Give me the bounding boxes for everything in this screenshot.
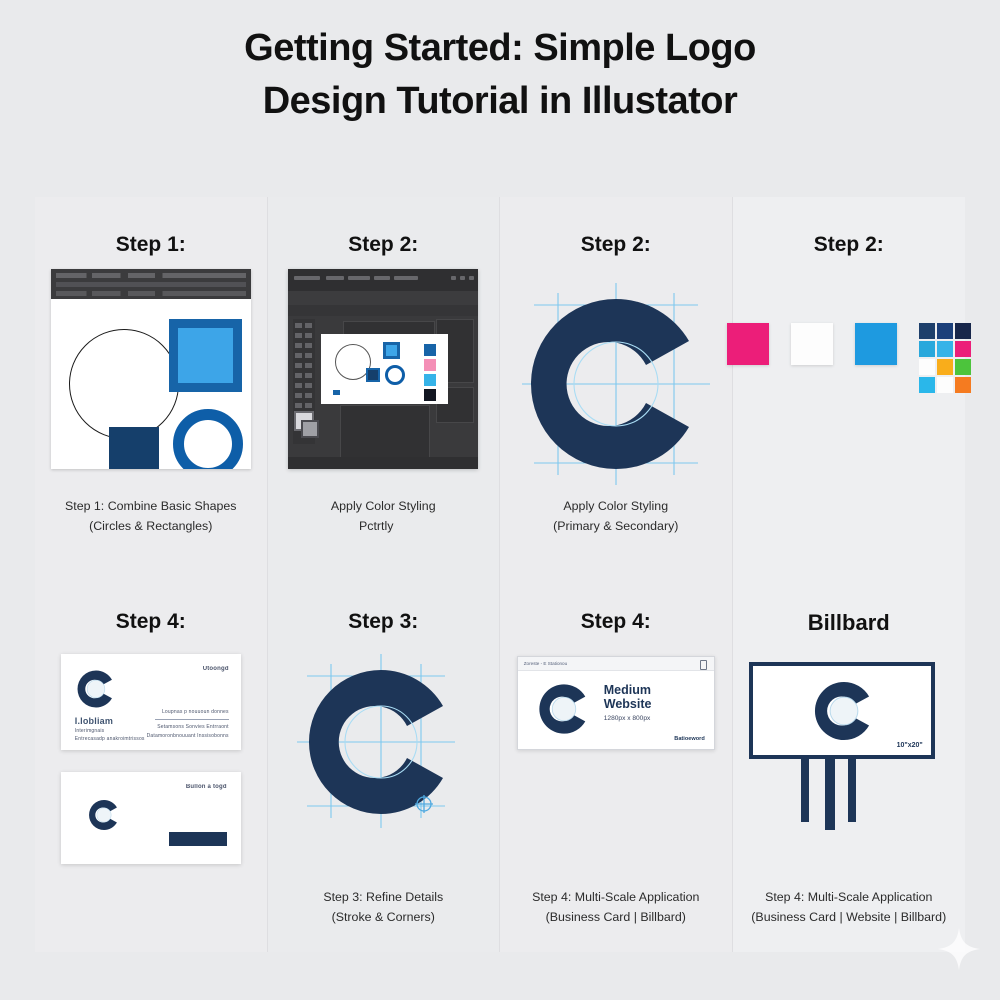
cell-step-2-logo: Step 2: Apply Color Styling (Primary & S… bbox=[500, 197, 732, 574]
illustrator-full-ui-mock bbox=[288, 269, 478, 469]
c-logo-with-guides bbox=[516, 277, 716, 492]
website-footer-text: Batioeword bbox=[674, 736, 704, 742]
artboard-canvas[interactable] bbox=[51, 299, 251, 469]
swatch-white[interactable] bbox=[791, 323, 833, 365]
cell-caption: Apply Color Styling Pctrtly bbox=[268, 496, 500, 536]
card-divider bbox=[155, 719, 229, 720]
c-logo-with-guides bbox=[293, 646, 473, 836]
caption-line-2: (Stroke & Corners) bbox=[268, 907, 500, 927]
shape-small-marker[interactable] bbox=[333, 390, 340, 395]
c-logo-icon bbox=[75, 668, 117, 710]
grid-swatch-12[interactable] bbox=[955, 377, 971, 393]
grid-swatch-2[interactable] bbox=[937, 323, 953, 339]
artboard-canvas[interactable] bbox=[321, 334, 448, 404]
card-role: Interimgnais bbox=[75, 728, 105, 734]
cell-heading: Step 2: bbox=[348, 233, 418, 257]
caption-line-1: Step 3: Refine Details bbox=[268, 887, 500, 907]
shape-square-navy[interactable] bbox=[109, 427, 159, 469]
caption-line-2: (Circles & Rectangles) bbox=[35, 516, 267, 536]
cell-billboard: Billbard 10"x20" Step 4: Multi-Scale App… bbox=[733, 574, 966, 951]
column-2: Step 2: bbox=[268, 197, 501, 952]
caption-line-2: Pctrtly bbox=[268, 516, 500, 536]
cell-heading: Step 4: bbox=[116, 610, 186, 634]
column-1: Step 1: Step 1: Co bbox=[35, 197, 268, 952]
website-mockup[interactable]: Zoreste - E Stationou Medium Website 128… bbox=[517, 656, 715, 750]
c-logo-artwork bbox=[516, 277, 716, 497]
website-dimensions: 1280px x 800px bbox=[604, 715, 651, 722]
caption-line-2: (Business Card | Billbard) bbox=[500, 907, 732, 927]
business-card-front[interactable]: Utoongd I.lobliam Interimgnais Entrecasa… bbox=[61, 654, 241, 750]
app-menubar bbox=[51, 269, 251, 299]
cell-step-4-website: Step 4: Zoreste - E Stationou Medium Web… bbox=[500, 574, 732, 951]
shape-ring-blue[interactable] bbox=[385, 365, 405, 385]
caption-line-1: Step 1: Combine Basic Shapes bbox=[35, 496, 267, 516]
c-logo-refined-artwork bbox=[293, 646, 473, 841]
swatch-navy[interactable] bbox=[424, 344, 436, 356]
cell-heading: Step 1: bbox=[116, 233, 186, 257]
business-card-back[interactable]: Bullon a togd bbox=[61, 772, 241, 864]
billboard-dimensions: 10"x20" bbox=[897, 742, 923, 749]
column-3: Step 2: Apply Color Styling (Primary & S… bbox=[500, 197, 733, 952]
cell-step-2-swatches: Step 2: bbox=[733, 197, 966, 574]
website-title-line-2: Website bbox=[604, 697, 652, 711]
cell-step-3: Step 3: bbox=[268, 574, 500, 951]
cell-caption: Step 4: Multi-Scale Application (Busines… bbox=[500, 887, 732, 927]
shape-square-light-blue[interactable] bbox=[383, 342, 400, 359]
stroke-swatch[interactable] bbox=[301, 420, 319, 438]
card-top-right-text: Utoongd bbox=[203, 666, 229, 672]
grid-swatch-5[interactable] bbox=[937, 341, 953, 357]
caption-line-1: Step 4: Multi-Scale Application bbox=[733, 887, 966, 907]
cell-heading: Step 4: bbox=[581, 610, 651, 634]
grid-swatch-9[interactable] bbox=[955, 359, 971, 375]
card-name: I.lobliam bbox=[75, 716, 113, 726]
app-statusbar bbox=[288, 457, 478, 469]
column-4: Step 2: bbox=[733, 197, 966, 952]
grid-swatch-8[interactable] bbox=[937, 359, 953, 375]
swatch-black[interactable] bbox=[424, 389, 436, 401]
cell-caption: Apply Color Styling (Primary & Secondary… bbox=[500, 496, 732, 536]
cell-heading: Billbard bbox=[808, 610, 890, 636]
cell-heading: Step 2: bbox=[581, 233, 651, 257]
website-title-line-1: Medium bbox=[604, 683, 652, 697]
card-right-line-3: Datamoronbnouuant Inssisobonns bbox=[147, 733, 229, 739]
billboard-leg-center bbox=[825, 759, 835, 830]
grid-swatch-10[interactable] bbox=[919, 377, 935, 393]
swatch-blue[interactable] bbox=[855, 323, 897, 365]
illustrator-window-mock bbox=[51, 269, 251, 469]
app-menubar bbox=[288, 291, 478, 305]
swatch-pink[interactable] bbox=[424, 359, 436, 371]
page-title-line2: Design Tutorial in Illustator bbox=[0, 75, 1000, 128]
canvas-swatch-column[interactable] bbox=[424, 344, 436, 404]
color-swatch-row bbox=[727, 323, 971, 393]
cell-heading: Step 3: bbox=[348, 610, 418, 634]
grid-swatch-3[interactable] bbox=[955, 323, 971, 339]
billboard-leg-right bbox=[848, 759, 856, 822]
caption-line-2: (Primary & Secondary) bbox=[500, 516, 732, 536]
color-swatch-grid bbox=[919, 323, 971, 393]
cell-caption: Step 3: Refine Details (Stroke & Corners… bbox=[268, 887, 500, 927]
grid-swatch-1[interactable] bbox=[919, 323, 935, 339]
cell-step-2-illustrator: Step 2: bbox=[268, 197, 500, 574]
card-top-right-text: Bullon a togd bbox=[186, 784, 227, 790]
sparkle-icon bbox=[936, 926, 982, 972]
billboard-leg-left bbox=[801, 759, 809, 822]
tutorial-grid: Step 1: Step 1: Co bbox=[35, 197, 965, 952]
caption-line-1: Step 4: Multi-Scale Application bbox=[500, 887, 732, 907]
shape-ring-blue[interactable] bbox=[173, 409, 243, 469]
grid-swatch-4[interactable] bbox=[919, 341, 935, 357]
cell-caption: Step 1: Combine Basic Shapes (Circles & … bbox=[35, 496, 267, 536]
billboard-panel[interactable]: 10"x20" bbox=[749, 662, 935, 759]
menubar-row-1 bbox=[56, 273, 246, 278]
swatch-cyan[interactable] bbox=[424, 374, 436, 386]
card-sub: Entrecasadp anakroimtrissos bbox=[75, 736, 145, 742]
website-title: Medium Website bbox=[604, 683, 652, 711]
menubar-row-3 bbox=[56, 291, 246, 296]
cell-caption: Step 4: Multi-Scale Application (Busines… bbox=[733, 887, 966, 927]
caption-line-1: Apply Color Styling bbox=[500, 496, 732, 516]
c-logo-icon bbox=[811, 678, 877, 744]
shape-circle-outline[interactable] bbox=[69, 329, 179, 439]
cell-step-1: Step 1: Step 1: Co bbox=[35, 197, 267, 574]
billboard-mockup[interactable]: 10"x20" bbox=[749, 662, 949, 830]
cell-step-4-cards: Step 4: Utoongd I.lobliam Interimgnais E… bbox=[35, 574, 267, 951]
cell-heading: Step 2: bbox=[814, 233, 884, 257]
dialog-panel-bottom[interactable] bbox=[340, 405, 430, 465]
c-logo-icon bbox=[87, 798, 121, 832]
shape-square-navy[interactable] bbox=[366, 368, 380, 382]
browser-tab-text: Zoreste - E Stationou bbox=[524, 661, 567, 666]
shape-square-light-blue[interactable] bbox=[169, 319, 242, 392]
card-navy-bar bbox=[169, 832, 227, 846]
menubar-row-2 bbox=[56, 282, 246, 287]
card-right-line-1: Loupnas p nouuoun donnes bbox=[162, 709, 229, 715]
app-titlebar bbox=[288, 269, 478, 291]
grid-swatch-7[interactable] bbox=[919, 359, 935, 375]
device-icon bbox=[700, 660, 707, 670]
page-title: Getting Started: Simple Logo Design Tuto… bbox=[0, 22, 1000, 128]
grid-swatch-11[interactable] bbox=[937, 377, 953, 393]
c-logo-icon bbox=[536, 681, 592, 737]
grid-swatch-6[interactable] bbox=[955, 341, 971, 357]
caption-line-1: Apply Color Styling bbox=[268, 496, 500, 516]
page-title-line1: Getting Started: Simple Logo bbox=[0, 22, 1000, 75]
swatch-magenta[interactable] bbox=[727, 323, 769, 365]
card-right-line-2: Setamsons Sonvies Entrraont bbox=[157, 724, 229, 730]
app-control-bar bbox=[288, 305, 478, 316]
caption-line-2: (Business Card | Website | Billbard) bbox=[733, 907, 966, 927]
